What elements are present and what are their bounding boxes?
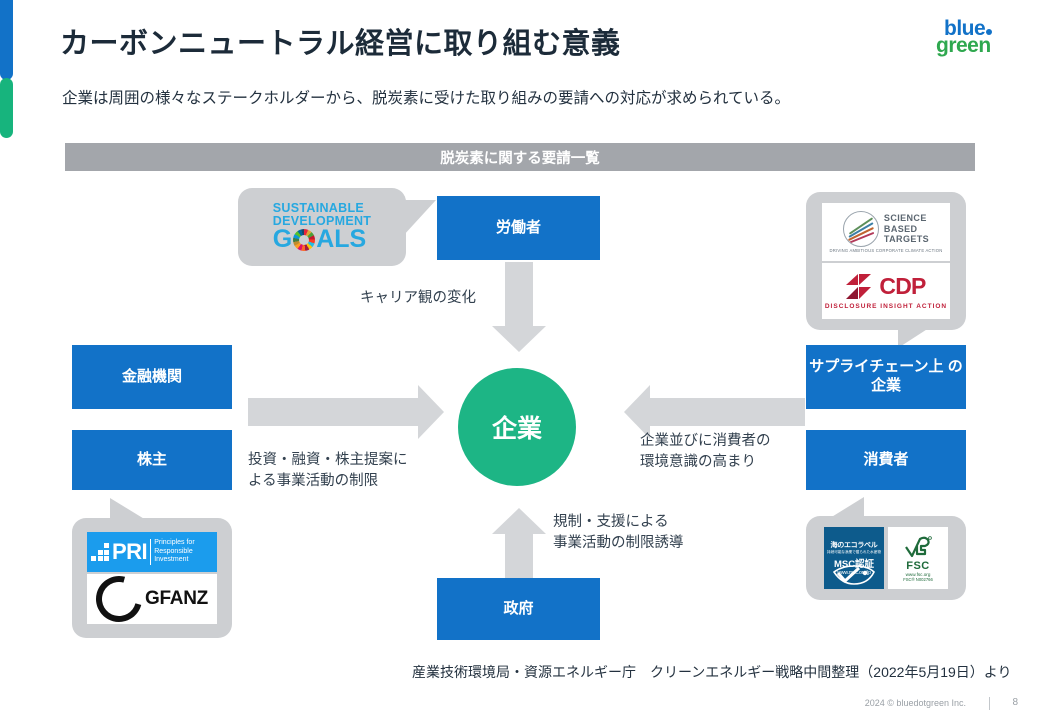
pri-logo: PRI Principles for Responsible Investmen…	[87, 532, 217, 572]
brand-dot-icon	[986, 29, 992, 35]
caption-career-change: キャリア観の変化	[360, 288, 476, 309]
copyright-text: 2024 © bluedotgreen Inc.	[865, 698, 966, 708]
msc-line-2: 持続可能な漁業で獲られた水産物	[827, 550, 881, 554]
logo-bubble-sdgs: SUSTAINABLE DEVELOPMENT GALS	[238, 188, 406, 266]
logo-bubble-sbt-cdp: SCIENCE BASED TARGETS DRIVING AMBITIOUS …	[806, 192, 966, 330]
arrow-worker-to-company	[505, 262, 533, 326]
section-header-bar: 脱炭素に関する要請一覧	[65, 143, 975, 171]
fsc-tree-check-icon	[903, 534, 933, 560]
brand-logo: blue green	[936, 18, 1022, 62]
actor-box-consumer[interactable]: 消費者	[806, 430, 966, 490]
gfanz-wordmark: GFANZ	[145, 588, 208, 610]
pri-wordmark: PRI	[112, 541, 147, 563]
page-number: 8	[1012, 697, 1018, 708]
cdp-tagline: DISCLOSURE INSIGHT ACTION	[825, 303, 947, 310]
logo-bubble-pri-gfanz: PRI Principles for Responsible Investmen…	[72, 518, 232, 638]
arrow-market-to-company	[650, 398, 805, 426]
actor-box-supply-chain[interactable]: サプライチェーン上 の企業	[806, 345, 966, 409]
bubble-tail-icon	[110, 498, 146, 520]
cdp-logo-row: CDP	[846, 273, 925, 301]
sdgs-line-1: SUSTAINABLE	[273, 202, 371, 215]
brand-logo-blue-text: blue	[936, 18, 1022, 39]
source-citation: 産業技術環境局・資源エネルギー庁 クリーンエネルギー戦略中間整理（2022年5月…	[412, 662, 1012, 682]
cdp-logo: CDP DISCLOSURE INSIGHT ACTION	[822, 263, 950, 319]
pri-tag-1: Principles for	[154, 539, 194, 548]
gfanz-logo: GFANZ	[87, 574, 217, 624]
footer-divider	[989, 697, 990, 710]
gfanz-ring-icon	[88, 568, 151, 631]
sbt-logo: SCIENCE BASED TARGETS DRIVING AMBITIOUS …	[822, 203, 950, 261]
arrow-investors-to-company	[248, 398, 418, 426]
bubble-tail-icon	[403, 200, 436, 236]
sbt-logo-row: SCIENCE BASED TARGETS	[843, 211, 929, 247]
arrow-government-to-company	[505, 534, 533, 578]
sdgs-goals-wordmark: GALS	[273, 227, 371, 252]
caption-environmental-awareness: 企業並びに消費者の 環境意識の高まり	[640, 431, 771, 473]
actor-box-financial-institution[interactable]: 金融機関	[72, 345, 232, 409]
msc-fish-check-icon	[832, 564, 876, 586]
msc-line-1: 海のエコラベル	[831, 540, 878, 550]
pri-squares-icon	[91, 543, 109, 561]
actor-box-worker[interactable]: 労働者	[437, 196, 600, 260]
actor-box-shareholder[interactable]: 株主	[72, 430, 232, 490]
accent-bar-green	[0, 78, 13, 138]
caption-regulation-support: 規制・支援による 事業活動の制限誘導	[553, 512, 684, 554]
fsc-wordmark: FSC	[906, 560, 930, 572]
fsc-code: FSC® N002766	[903, 577, 933, 582]
center-node-company[interactable]: 企業	[458, 368, 576, 486]
cdp-arrow-mark-icon	[846, 273, 876, 301]
page-title: カーボンニュートラル経営に取り組む意義	[60, 20, 621, 62]
accent-bar-blue	[0, 0, 13, 80]
pri-tag-3: Investment	[154, 556, 194, 565]
pri-tag-2: Responsible	[154, 548, 194, 557]
actor-box-government[interactable]: 政府	[437, 578, 600, 640]
eco-label-pair: 海のエコラベル 持続可能な漁業で獲られた水産物 MSC認証 www.msc.or…	[824, 527, 948, 589]
sbt-word-3: TARGETS	[884, 234, 929, 245]
pri-tagline: Principles for Responsible Investment	[150, 539, 194, 565]
sdgs-color-wheel-icon	[293, 229, 315, 251]
sbt-curve-icon	[843, 211, 879, 247]
cdp-wordmark: CDP	[879, 275, 925, 298]
caption-investment-limits: 投資・融資・株主提案に よる事業活動の制限	[248, 450, 408, 492]
sbt-word-1: SCIENCE	[884, 213, 929, 224]
sbt-tagline: DRIVING AMBITIOUS CORPORATE CLIMATE ACTI…	[830, 248, 943, 253]
sbt-wordmark: SCIENCE BASED TARGETS	[884, 213, 929, 245]
bubble-tail-icon	[830, 497, 864, 518]
page-subtitle: 企業は周囲の様々なステークホルダーから、脱炭素に受けた取り組みの要請への対応が求…	[62, 86, 790, 108]
fsc-logo: FSC www.fsc.org FSC® N002766	[888, 527, 948, 589]
sbt-word-2: BASED	[884, 224, 929, 235]
sdgs-logo: SUSTAINABLE DEVELOPMENT GALS	[273, 202, 371, 252]
msc-logo: 海のエコラベル 持続可能な漁業で獲られた水産物 MSC認証 www.msc.or…	[824, 527, 884, 589]
logo-bubble-msc-fsc: 海のエコラベル 持続可能な漁業で獲られた水産物 MSC認証 www.msc.or…	[806, 516, 966, 600]
